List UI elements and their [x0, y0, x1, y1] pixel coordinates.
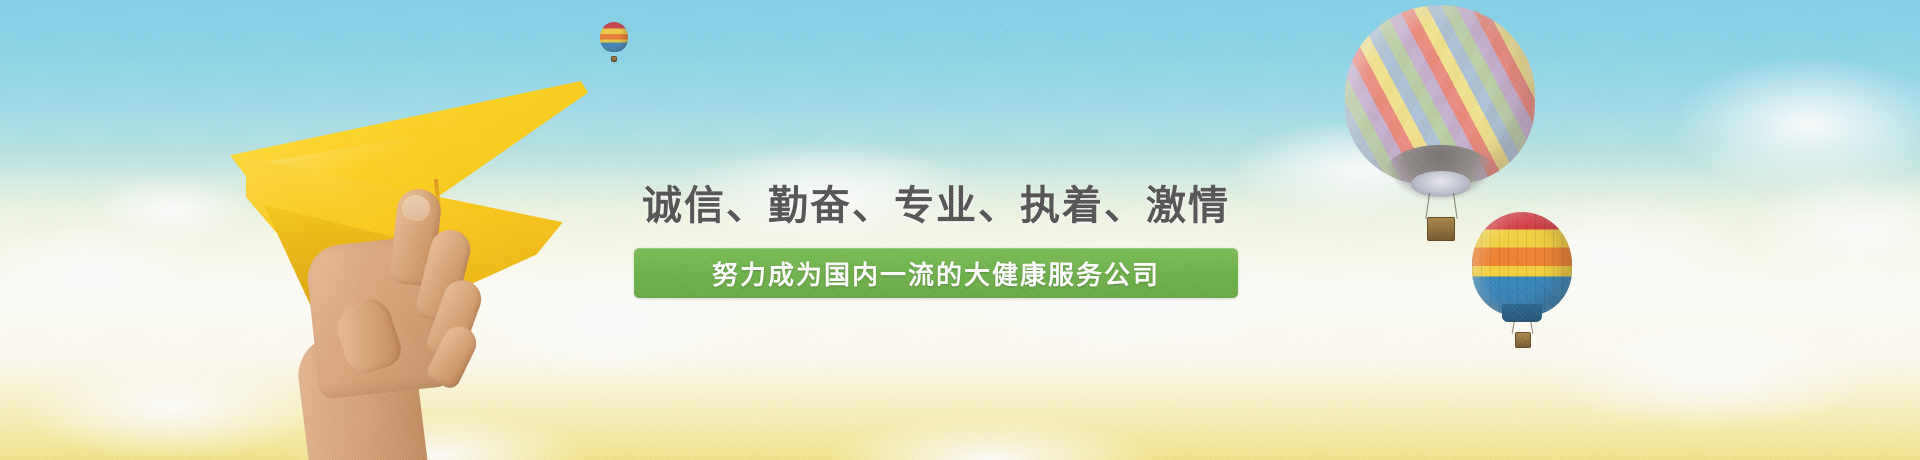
banner-tagline-bar: 努力成为国内一流的大健康服务公司 — [634, 248, 1238, 298]
balloon-envelope — [600, 22, 628, 52]
balloon-basket — [611, 56, 617, 62]
hand — [296, 183, 496, 460]
hero-banner: 诚信、勤奋、专业、执着、激情 努力成为国内一流的大健康服务公司 — [0, 0, 1920, 460]
balloon-envelope — [1472, 212, 1572, 316]
balloon-basket — [1427, 217, 1455, 241]
balloon-large — [1345, 5, 1545, 245]
banner-headline: 诚信、勤奋、专业、执着、激情 — [584, 180, 1288, 232]
balloon-basket — [1515, 332, 1531, 348]
balloon-small — [1472, 212, 1582, 357]
balloon-tiny — [600, 22, 630, 66]
banner-tagline: 努力成为国内一流的大健康服务公司 — [712, 255, 1160, 292]
balloon-ropes — [1423, 193, 1463, 219]
banner-copy: 诚信、勤奋、专业、执着、激情 努力成为国内一流的大健康服务公司 — [584, 180, 1288, 298]
